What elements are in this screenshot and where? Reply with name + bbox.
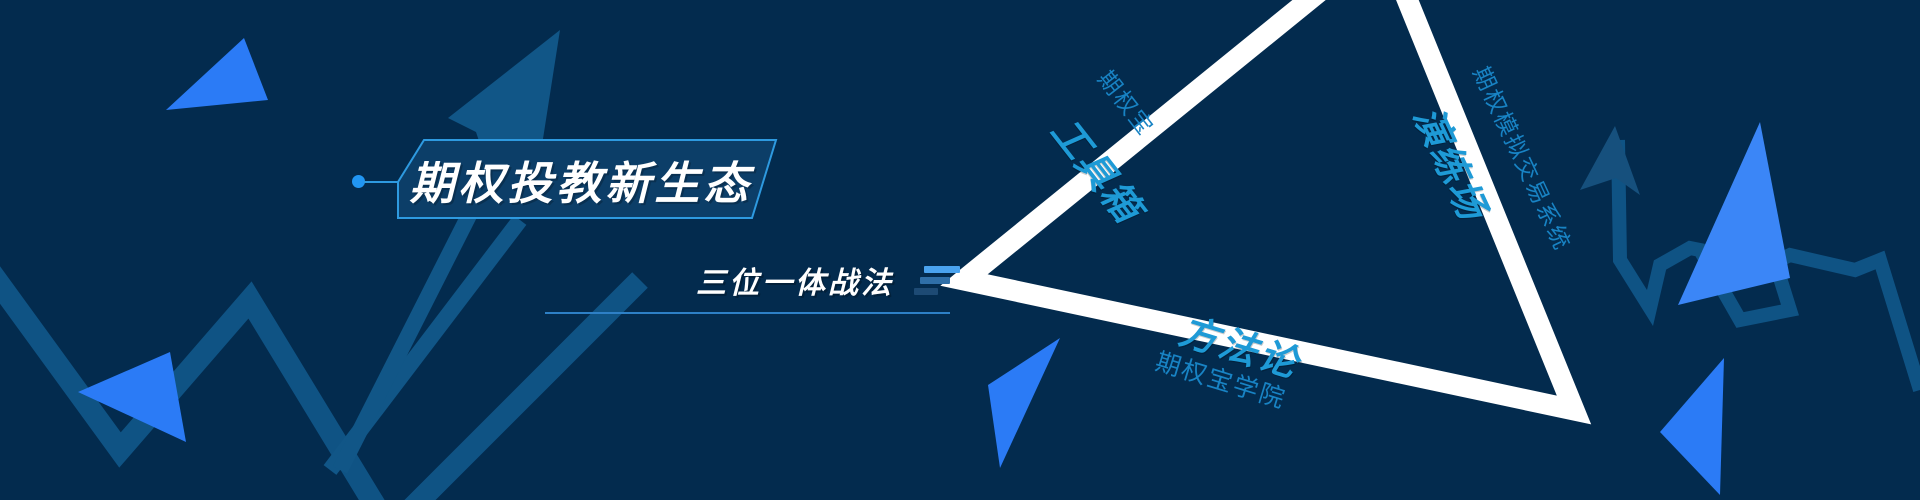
subtitle-underline <box>545 312 950 314</box>
triangle-top-right <box>1678 122 1790 305</box>
background-decorations <box>0 0 1920 500</box>
triangle-center-bottom <box>988 338 1060 468</box>
page-title: 期权投教新生态 <box>406 146 756 212</box>
headline-subtitle-row: 三位一体战法 <box>500 258 960 302</box>
headline-title-block: 期权投教新生态 <box>356 140 776 218</box>
three-bars-icon <box>920 264 960 296</box>
triangle-bottom-right <box>1660 358 1724 495</box>
page-subtitle: 三位一体战法 <box>696 258 894 302</box>
promo-banner: 期权投教新生态 三位一体战法 期权宝 工具箱 期权模拟交易系统 演练场 方法论 … <box>0 0 1920 500</box>
triangle-top-left <box>166 38 268 110</box>
